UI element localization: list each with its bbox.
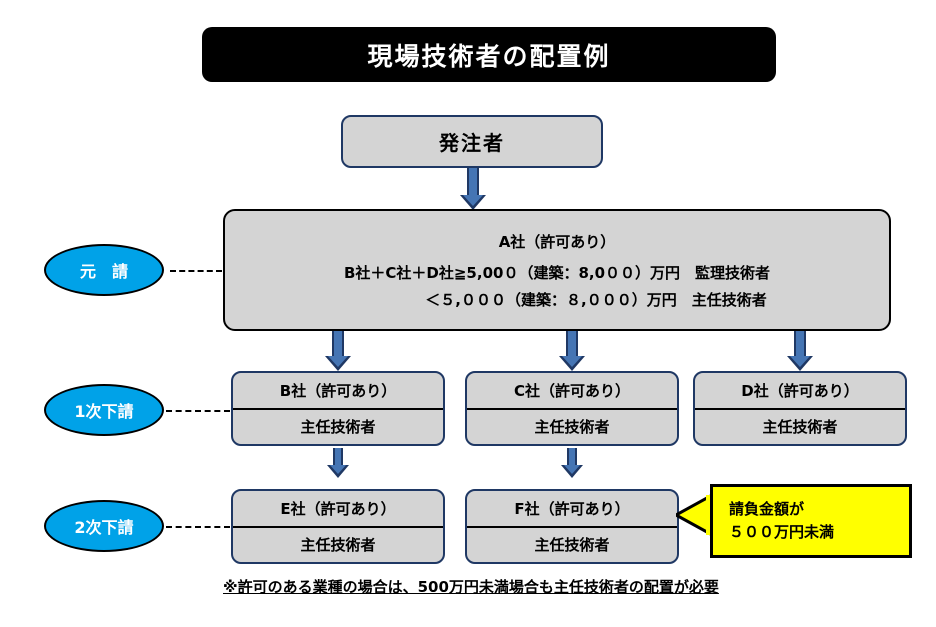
subcontractor-d-company: D社（許可あり） — [695, 373, 905, 410]
tier-label-prime-text: 元 請 — [80, 258, 128, 282]
prime-threshold-over-line: B社＋C社＋D社≧5,00０（建築：8,0００）万円 監理技術者 — [344, 266, 770, 281]
subcontractor-box-b: B社（許可あり） 主任技術者 — [231, 371, 445, 446]
tier-label-sub1-text: 1次下請 — [74, 398, 133, 422]
subcontractor-e-company: E社（許可あり） — [233, 491, 443, 528]
subcontractor-e-engineer: 主任技術者 — [233, 528, 443, 563]
tier-label-sub2-text: 2次下請 — [74, 514, 133, 538]
subcontractor-f-company: F社（許可あり） — [467, 491, 677, 528]
arrow-prime-to-b-icon — [323, 331, 353, 373]
subcontractor-c-engineer: 主任技術者 — [467, 410, 677, 445]
callout-box-contract-amount: 請負金額が ５００万円未満 — [710, 484, 912, 558]
subcontractor-box-d: D社（許可あり） 主任技術者 — [693, 371, 907, 446]
arrow-client-to-prime-icon — [458, 168, 488, 210]
subcontractor-b-company: B社（許可あり） — [233, 373, 443, 410]
tier-label-sub1: 1次下請 — [44, 384, 164, 436]
tier-label-sub2: 2次下請 — [44, 500, 164, 552]
prime-threshold-under-line: ＜５,０００（建築：８,０００）万円 主任技術者 — [347, 293, 766, 308]
dashed-connector-prime — [170, 270, 222, 272]
prime-company-line: A社（許可あり） — [499, 235, 616, 250]
page-title-banner: 現場技術者の配置例 — [202, 27, 776, 82]
prime-contractor-box: A社（許可あり） B社＋C社＋D社≧5,00０（建築：8,0００）万円 監理技術… — [223, 209, 891, 331]
callout-line-1: 請負金額が — [729, 498, 804, 521]
subcontractor-box-c: C社（許可あり） 主任技術者 — [465, 371, 679, 446]
footer-note: ※許可のある業種の場合は、500万円未満場合も主任技術者の配置が必要 — [223, 576, 719, 597]
subcontractor-f-engineer: 主任技術者 — [467, 528, 677, 563]
arrow-c-to-f-icon — [559, 448, 585, 480]
subcontractor-c-company: C社（許可あり） — [467, 373, 677, 410]
arrow-prime-to-c-icon — [557, 331, 587, 373]
subcontractor-box-f: F社（許可あり） 主任技術者 — [465, 489, 679, 564]
dashed-connector-sub1 — [166, 410, 230, 412]
arrow-b-to-e-icon — [325, 448, 351, 480]
subcontractor-box-e: E社（許可あり） 主任技術者 — [231, 489, 445, 564]
page-title: 現場技術者の配置例 — [367, 37, 610, 73]
callout-line-2: ５００万円未満 — [729, 521, 834, 544]
dashed-connector-sub2 — [166, 526, 230, 528]
client-box: 発注者 — [341, 115, 603, 168]
tier-label-prime: 元 請 — [44, 244, 164, 296]
subcontractor-d-engineer: 主任技術者 — [695, 410, 905, 445]
client-label: 発注者 — [439, 127, 505, 156]
subcontractor-b-engineer: 主任技術者 — [233, 410, 443, 445]
arrow-prime-to-d-icon — [785, 331, 815, 373]
